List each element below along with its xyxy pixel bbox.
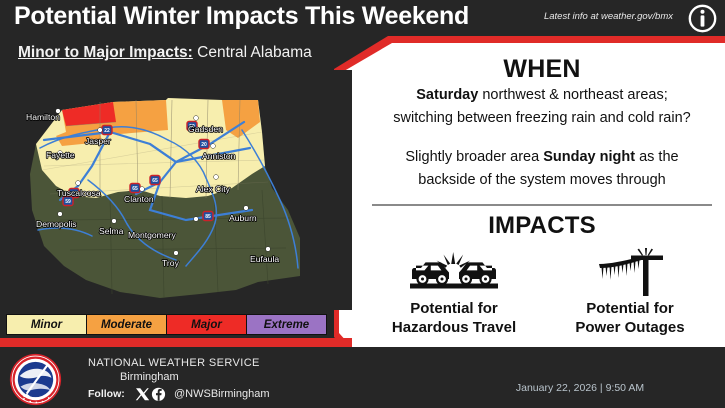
info-circle-icon[interactable]: [688, 4, 717, 33]
bottom-red-stripe: [0, 338, 352, 347]
city-label: Fayette: [46, 150, 75, 160]
power-line-icon-wrap: [591, 246, 669, 296]
city-label: Anniston: [202, 151, 236, 161]
impact-label-line-2: Hazardous Travel: [392, 318, 516, 337]
office-name: Birmingham: [120, 371, 179, 383]
downed-power-line-icon: [591, 246, 669, 296]
city-dot: [211, 144, 216, 149]
page-title: Potential Winter Impacts This Weekend: [14, 2, 469, 31]
city-dot: [194, 217, 199, 222]
when-line-3-post: as the: [635, 149, 679, 165]
impacts-row: Potential for Hazardous Travel: [366, 246, 718, 337]
header-bar: Potential Winter Impacts This Weekend La…: [0, 0, 725, 36]
city-label: Tuscaloosa: [57, 188, 101, 198]
city-label: Alex City: [196, 184, 231, 194]
city-dot: [266, 247, 271, 252]
legend-cell-major: Major: [167, 315, 247, 334]
impacts-heading: IMPACTS: [366, 212, 718, 240]
highway-shield-65-5: 65: [150, 176, 160, 185]
highway-shield-65-6: 65: [130, 184, 140, 193]
highway-shield-85-7: 85: [203, 212, 213, 221]
svg-text:65: 65: [132, 186, 138, 192]
impact-label-line-1: Potential for: [392, 299, 516, 318]
impact-label-line-1: Potential for: [575, 299, 684, 318]
city-label: Hamilton: [26, 112, 60, 122]
city-dot: [98, 128, 103, 133]
svg-text:22: 22: [104, 128, 110, 134]
when-line-3-pre: Slightly broader area: [405, 149, 543, 165]
car-crash-icon: [408, 250, 500, 296]
svg-text:85: 85: [205, 214, 211, 220]
facebook-icon: [152, 388, 165, 401]
issued-timestamp: January 22, 2026 | 9:50 AM: [450, 382, 710, 394]
impact-item-power-outages: Potential for Power Outages: [542, 246, 718, 337]
city-label: Demopolis: [36, 219, 77, 229]
city-marker-fayette: Fayette: [46, 150, 75, 160]
legend-cell-minor: Minor: [7, 315, 87, 334]
social-handle[interactable]: @NWSBirmingham: [174, 388, 270, 400]
social-icons-group[interactable]: [134, 387, 168, 402]
subtitle: Minor to Major Impacts: Central Alabama: [18, 44, 312, 62]
city-label: Eufaula: [250, 254, 279, 264]
city-dot: [112, 219, 117, 224]
impact-label-hazardous-travel: Potential for Hazardous Travel: [392, 299, 516, 337]
highway-shield-20-2: 20: [199, 140, 209, 149]
legend-cell-extreme: Extreme: [247, 315, 326, 334]
subtitle-rest: Central Alabama: [193, 44, 312, 61]
impact-label-line-2: Power Outages: [575, 318, 684, 337]
when-spacer: [366, 130, 718, 146]
city-label: Troy: [162, 258, 180, 268]
agency-name: NATIONAL WEATHER SERVICE: [88, 357, 260, 369]
city-label: Montgomery: [128, 230, 176, 240]
city-dot: [214, 175, 219, 180]
when-heading: WHEN: [366, 55, 718, 84]
city-dot: [58, 212, 63, 217]
section-divider: [372, 204, 712, 206]
impact-label-power-outages: Potential for Power Outages: [575, 299, 684, 337]
subtitle-emphasis: Minor to Major Impacts:: [18, 44, 193, 61]
highway-shield-22-0: 22: [102, 126, 112, 135]
map-graphic: 2259202059656585 HamiltonJasperFayetteTu…: [0, 70, 352, 310]
city-dot: [140, 187, 145, 192]
svg-text:59: 59: [65, 199, 71, 205]
when-line-1-rest: northwest & northeast areas;: [478, 87, 667, 103]
follow-label: Follow:: [88, 388, 125, 400]
city-dot: [174, 251, 179, 256]
when-line-3: Slightly broader area Sunday night as th…: [366, 146, 718, 169]
svg-text:20: 20: [201, 142, 207, 148]
x-twitter-icon: [136, 388, 149, 400]
when-line-1: Saturday northwest & northeast areas;: [366, 84, 718, 107]
car-crash-icon-wrap: [408, 246, 500, 296]
city-dot: [244, 206, 249, 211]
city-dot: [76, 181, 81, 186]
impact-item-hazardous-travel: Potential for Hazardous Travel: [366, 246, 542, 337]
legend-cell-moderate: Moderate: [87, 315, 167, 334]
svg-text:65: 65: [152, 178, 158, 184]
city-dot: [194, 116, 199, 121]
when-line-4: backside of the system moves through: [366, 169, 718, 192]
right-panel-content: WHEN Saturday northwest & northeast area…: [366, 43, 718, 361]
city-label: Jasper: [85, 136, 111, 146]
nws-seal-logo: [9, 353, 62, 406]
city-label: Clanton: [124, 194, 154, 204]
latest-info-text: Latest info at weather.gov/bmx: [544, 11, 673, 22]
impact-legend: MinorModerateMajorExtreme: [6, 314, 327, 335]
when-line-1-bold: Saturday: [416, 87, 478, 103]
impact-map[interactable]: 2259202059656585 HamiltonJasperFayetteTu…: [0, 70, 352, 310]
city-label: Auburn: [229, 213, 257, 223]
when-line-3-bold: Sunday night: [543, 149, 635, 165]
when-line-2: switching between freezing rain and cold…: [366, 107, 718, 130]
city-label: Selma: [99, 226, 124, 236]
city-label: Gadsden: [188, 124, 223, 134]
weather-graphic: Potential Winter Impacts This Weekend La…: [0, 0, 725, 408]
